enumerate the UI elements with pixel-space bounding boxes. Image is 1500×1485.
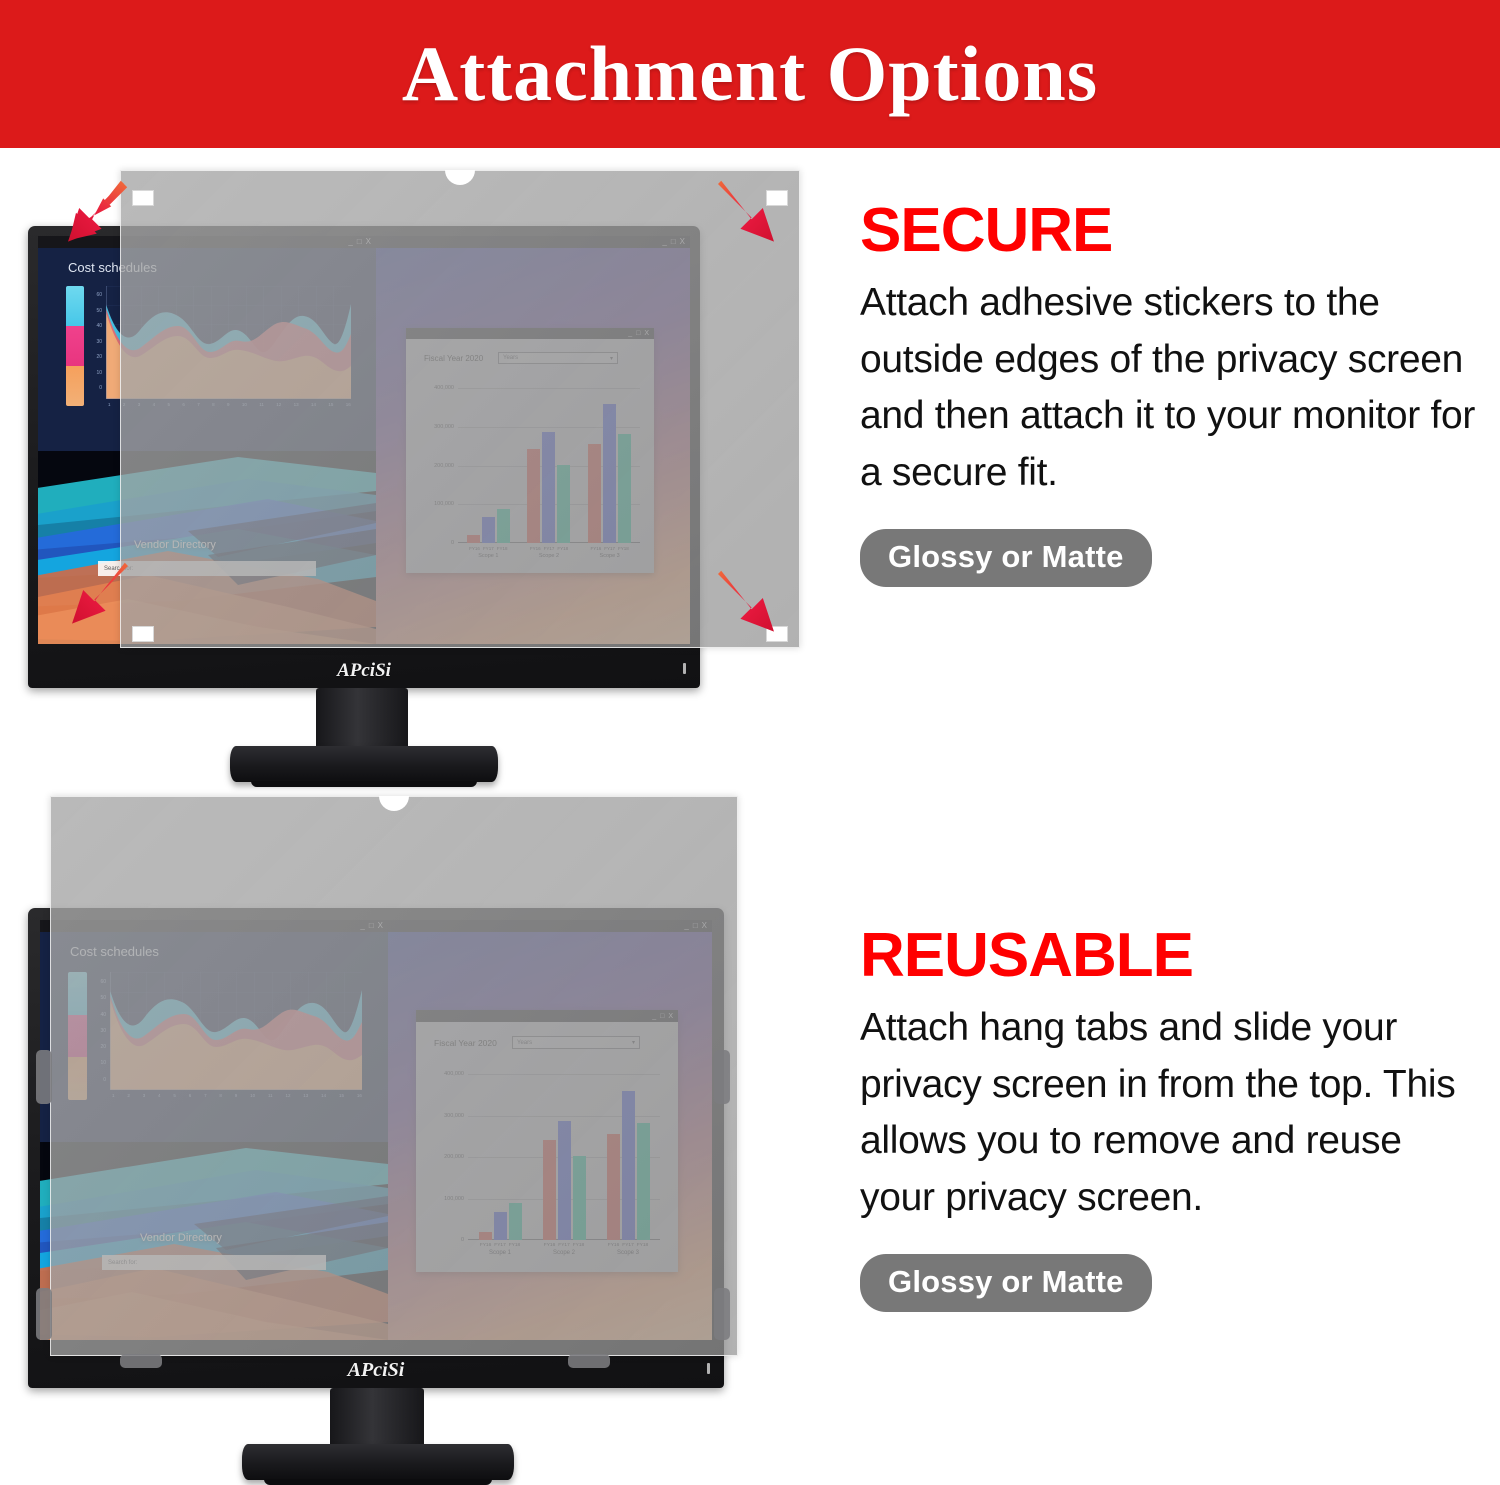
titlebar-fiscal-desktop: _ □ X	[376, 236, 690, 248]
color-legend-bar	[68, 972, 87, 1100]
window-fiscal-desktop[interactable]: _ □ X _ □ X Fiscal Year 2020	[376, 236, 690, 644]
feature-body-secure: Attach adhesive stickers to the outside …	[860, 275, 1480, 501]
bar-group-scope-3	[607, 1091, 650, 1240]
bar-fy17	[622, 1091, 635, 1240]
privacy-screen-notch	[379, 796, 409, 811]
minimize-icon[interactable]: _	[684, 922, 688, 930]
x-label-group: FY16FY17FY18 Scope 1	[480, 1243, 520, 1256]
minimize-icon[interactable]: _	[662, 238, 666, 246]
hang-tab-right-lower	[714, 1288, 730, 1340]
fiscal-bar-chart-plot	[468, 1074, 660, 1240]
arrow-pointer-bottom-left	[56, 558, 136, 638]
monitor-stand-neck	[316, 688, 408, 752]
bar-group-scope-1	[467, 509, 510, 543]
status-badge-reusable: Glossy or Matte	[860, 1254, 1152, 1312]
feature-body-reusable: Attach hang tabs and slide your privacy …	[860, 1000, 1480, 1226]
bar-fy18	[573, 1156, 586, 1240]
bar-fy18	[557, 465, 570, 544]
bar-fy16	[467, 535, 480, 543]
bar-groups	[458, 388, 640, 543]
hang-tab-left-upper	[36, 1050, 52, 1104]
cost-y-axis-ticks: 6050403020100	[88, 288, 102, 397]
chevron-down-icon: ▾	[610, 355, 613, 362]
bar-fy18	[497, 509, 510, 543]
feature-block-secure: SECURE Attach adhesive stickers to the o…	[860, 198, 1480, 587]
bar-group-scope-3	[588, 404, 631, 544]
bar-fy16	[607, 1134, 620, 1240]
cost-x-axis-ticks: 12345678 910111213141516	[108, 402, 351, 407]
x-label-group: FY16FY17FY18 Scope 3	[590, 546, 628, 559]
feature-heading-secure: SECURE	[860, 198, 1480, 263]
monitor-screen: _ □ X Cost schedules 6050403020100	[40, 920, 712, 1340]
bar-group-scope-2	[543, 1121, 586, 1240]
close-icon[interactable]: X	[366, 238, 371, 246]
color-legend-bar	[66, 286, 84, 406]
hang-tab-right-upper	[714, 1050, 730, 1104]
header-banner: Attachment Options	[0, 0, 1500, 148]
minimize-icon[interactable]: _	[360, 922, 364, 930]
x-label-group: FY16FY17FY18 Scope 3	[608, 1243, 648, 1256]
minimize-icon[interactable]: _	[628, 330, 632, 337]
bar-fy17	[558, 1121, 571, 1240]
close-icon[interactable]: X	[680, 238, 685, 246]
close-icon[interactable]: X	[644, 330, 649, 337]
bar-fy16	[479, 1232, 492, 1240]
monitor-bezel: _ □ X Cost schedules 6050403020100	[28, 908, 724, 1388]
privacy-screen-notch	[445, 170, 475, 185]
window-vendor-directory[interactable]: _ □ X	[40, 1142, 388, 1340]
vendor-directory-title: Vendor Directory	[140, 1232, 222, 1244]
maximize-icon[interactable]: □	[671, 238, 676, 246]
bar-fy16	[543, 1140, 556, 1240]
fiscal-year-dialog[interactable]: _ □ X Fiscal Year 2020 Years ▾ 400,000	[406, 328, 654, 573]
bar-group-scope-1	[479, 1203, 522, 1240]
feature-text-column: SECURE Attach adhesive stickers to the o…	[840, 148, 1500, 1462]
fiscal-y-axis: 400,000 300,000 200,000 100,000 0	[422, 1074, 464, 1240]
cost-chart-title: Cost schedules	[70, 944, 159, 959]
minimize-icon[interactable]: _	[652, 1013, 656, 1020]
power-led-icon	[683, 663, 686, 674]
bar-fy16	[588, 444, 601, 543]
bar-fy16	[527, 449, 540, 543]
close-icon[interactable]: X	[668, 1013, 673, 1020]
hang-tab-bottom-right	[568, 1354, 610, 1368]
bar-groups	[468, 1074, 660, 1240]
fiscal-chart-title: Fiscal Year 2020	[434, 1038, 497, 1048]
close-icon[interactable]: X	[702, 922, 707, 930]
feature-block-reusable: REUSABLE Attach hang tabs and slide your…	[860, 923, 1480, 1312]
fiscal-bar-chart-plot	[458, 388, 640, 543]
window-cost-schedules[interactable]: _ □ X Cost schedules 6050403020100	[40, 920, 388, 1142]
power-led-icon	[707, 1363, 710, 1374]
fiscal-year-dialog[interactable]: _ □ X Fiscal Year 2020 Years ▾ 400,000	[416, 1010, 678, 1272]
fiscal-x-axis-labels: FY16FY17FY18 Scope 1 FY16FY17FY18 Scope …	[458, 546, 640, 559]
maximize-icon[interactable]: □	[369, 922, 374, 930]
window-fiscal-desktop[interactable]: _ □ X _ □ X Fiscal Year 2020	[388, 920, 712, 1340]
maximize-icon[interactable]: □	[693, 922, 698, 930]
fiscal-chart-title: Fiscal Year 2020	[424, 354, 483, 363]
fiscal-y-axis: 400,000 300,000 200,000 100,000 0	[414, 388, 454, 543]
cost-x-axis-ticks: 12345678 910111213141516	[112, 1093, 362, 1098]
bar-fy18	[637, 1123, 650, 1240]
chevron-down-icon: ▾	[632, 1039, 635, 1046]
cost-y-axis-ticks: 6050403020100	[92, 974, 106, 1088]
x-label-group: FY16FY17FY18 Scope 2	[544, 1243, 584, 1256]
titlebar-fiscal-dialog: _ □ X	[416, 1010, 678, 1022]
product-image-column: _ □ X Cost schedules 6050403020100	[0, 148, 840, 1462]
arrow-pointer-bottom-right	[710, 566, 790, 646]
bar-fy17	[542, 432, 555, 543]
status-badge-secure: Glossy or Matte	[860, 529, 1152, 587]
vendor-search-input[interactable]: Search for:	[102, 1255, 326, 1270]
arrow-pointer-top-right	[710, 176, 790, 256]
hang-tab-left-lower	[36, 1288, 52, 1340]
bar-group-scope-2	[527, 432, 570, 543]
bar-fy17	[603, 404, 616, 544]
x-label-group: FY16FY17FY18 Scope 2	[530, 546, 568, 559]
page-body: _ □ X Cost schedules 6050403020100	[0, 148, 1500, 1462]
cost-chart-title: Cost schedules	[68, 260, 157, 275]
dropdown-value: Years	[503, 355, 518, 361]
bar-fy17	[494, 1212, 507, 1240]
titlebar-cost: _ □ X	[40, 920, 388, 932]
maximize-icon[interactable]: □	[357, 238, 362, 246]
brand-logo: APciSi	[348, 1359, 405, 1382]
vendor-directory-title: Vendor Directory	[134, 539, 216, 551]
bar-fy17	[482, 517, 495, 543]
cost-area-chart	[106, 286, 351, 399]
x-label-group: FY16FY17FY18 Scope 1	[469, 546, 507, 559]
page-title: Attachment Options	[402, 29, 1098, 119]
monitor-stand-base	[230, 746, 498, 782]
dropdown-value: Years	[517, 1040, 532, 1046]
hang-tab-bottom-left	[120, 1354, 162, 1368]
close-icon[interactable]: X	[378, 922, 383, 930]
cost-area-chart	[110, 972, 362, 1090]
maximize-icon[interactable]: □	[636, 330, 640, 337]
feature-heading-reusable: REUSABLE	[860, 923, 1480, 988]
fiscal-year-dropdown[interactable]: Years ▾	[512, 1036, 640, 1049]
bar-fy18	[618, 434, 631, 544]
monitor-brand-bar: APciSi	[28, 654, 700, 688]
monitor-stand-base	[242, 1444, 514, 1480]
monitor-illustration-secure: _ □ X Cost schedules 6050403020100	[20, 158, 820, 778]
titlebar-fiscal-desktop: _ □ X	[388, 920, 712, 932]
bar-fy18	[509, 1203, 522, 1240]
fiscal-x-axis-labels: FY16FY17FY18 Scope 1 FY16FY17FY18 Scope …	[468, 1243, 660, 1256]
titlebar-fiscal-dialog: _ □ X	[406, 328, 654, 339]
maximize-icon[interactable]: □	[660, 1013, 664, 1020]
adhesive-sticker-top-left	[132, 190, 154, 206]
monitor-stand-neck	[330, 1388, 424, 1450]
window-cost-schedules[interactable]: _ □ X Cost schedules 6050403020100	[38, 236, 376, 451]
fiscal-year-dropdown[interactable]: Years ▾	[498, 352, 618, 364]
brand-logo: APciSi	[337, 660, 391, 682]
minimize-icon[interactable]: _	[348, 238, 352, 246]
monitor-illustration-reusable: _ □ X Cost schedules 6050403020100	[20, 788, 820, 1448]
arrow-pointer-top-left	[52, 176, 132, 256]
